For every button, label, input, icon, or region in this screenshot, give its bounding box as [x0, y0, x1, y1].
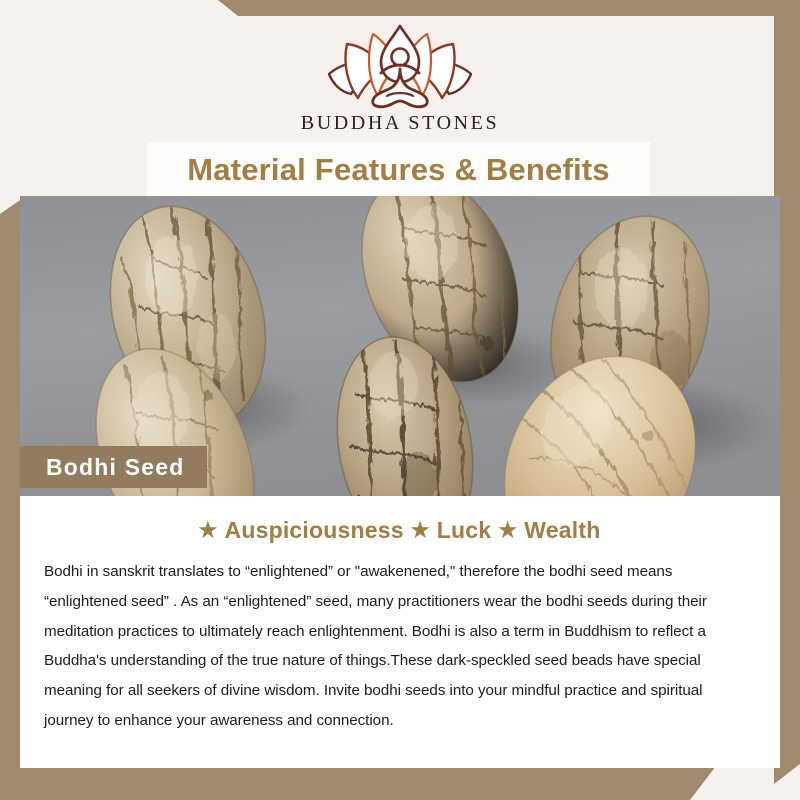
lotus-meditation-icon	[317, 22, 483, 110]
photo-caption-label: Bodhi Seed	[20, 446, 207, 488]
brand-wordmark: BUDDHA STONES	[301, 112, 499, 135]
benefit-auspiciousness: Auspiciousness	[221, 517, 408, 543]
star-icon: ★	[495, 519, 520, 542]
content-panel: ★Auspiciousness★Luck★Wealth Bodhi in san…	[20, 496, 780, 768]
star-icon: ★	[196, 519, 221, 542]
benefit-wealth: Wealth	[520, 517, 604, 543]
photo-caption-text: Bodhi Seed	[20, 454, 207, 481]
frame-band-bottom	[0, 766, 800, 800]
star-icon: ★	[408, 519, 433, 542]
brand-logo: BUDDHA STONES	[0, 16, 800, 144]
benefit-luck: Luck	[433, 517, 495, 543]
benefits-headline: ★Auspiciousness★Luck★Wealth	[20, 496, 780, 543]
title-banner: Material Features & Benefits	[147, 142, 650, 196]
page-title: Material Features & Benefits	[187, 154, 610, 185]
infographic-poster: BUDDHA STONES Material Features & Benefi…	[0, 0, 800, 800]
description-paragraph: Bodhi in sanskrit translates to “enlight…	[20, 543, 780, 735]
